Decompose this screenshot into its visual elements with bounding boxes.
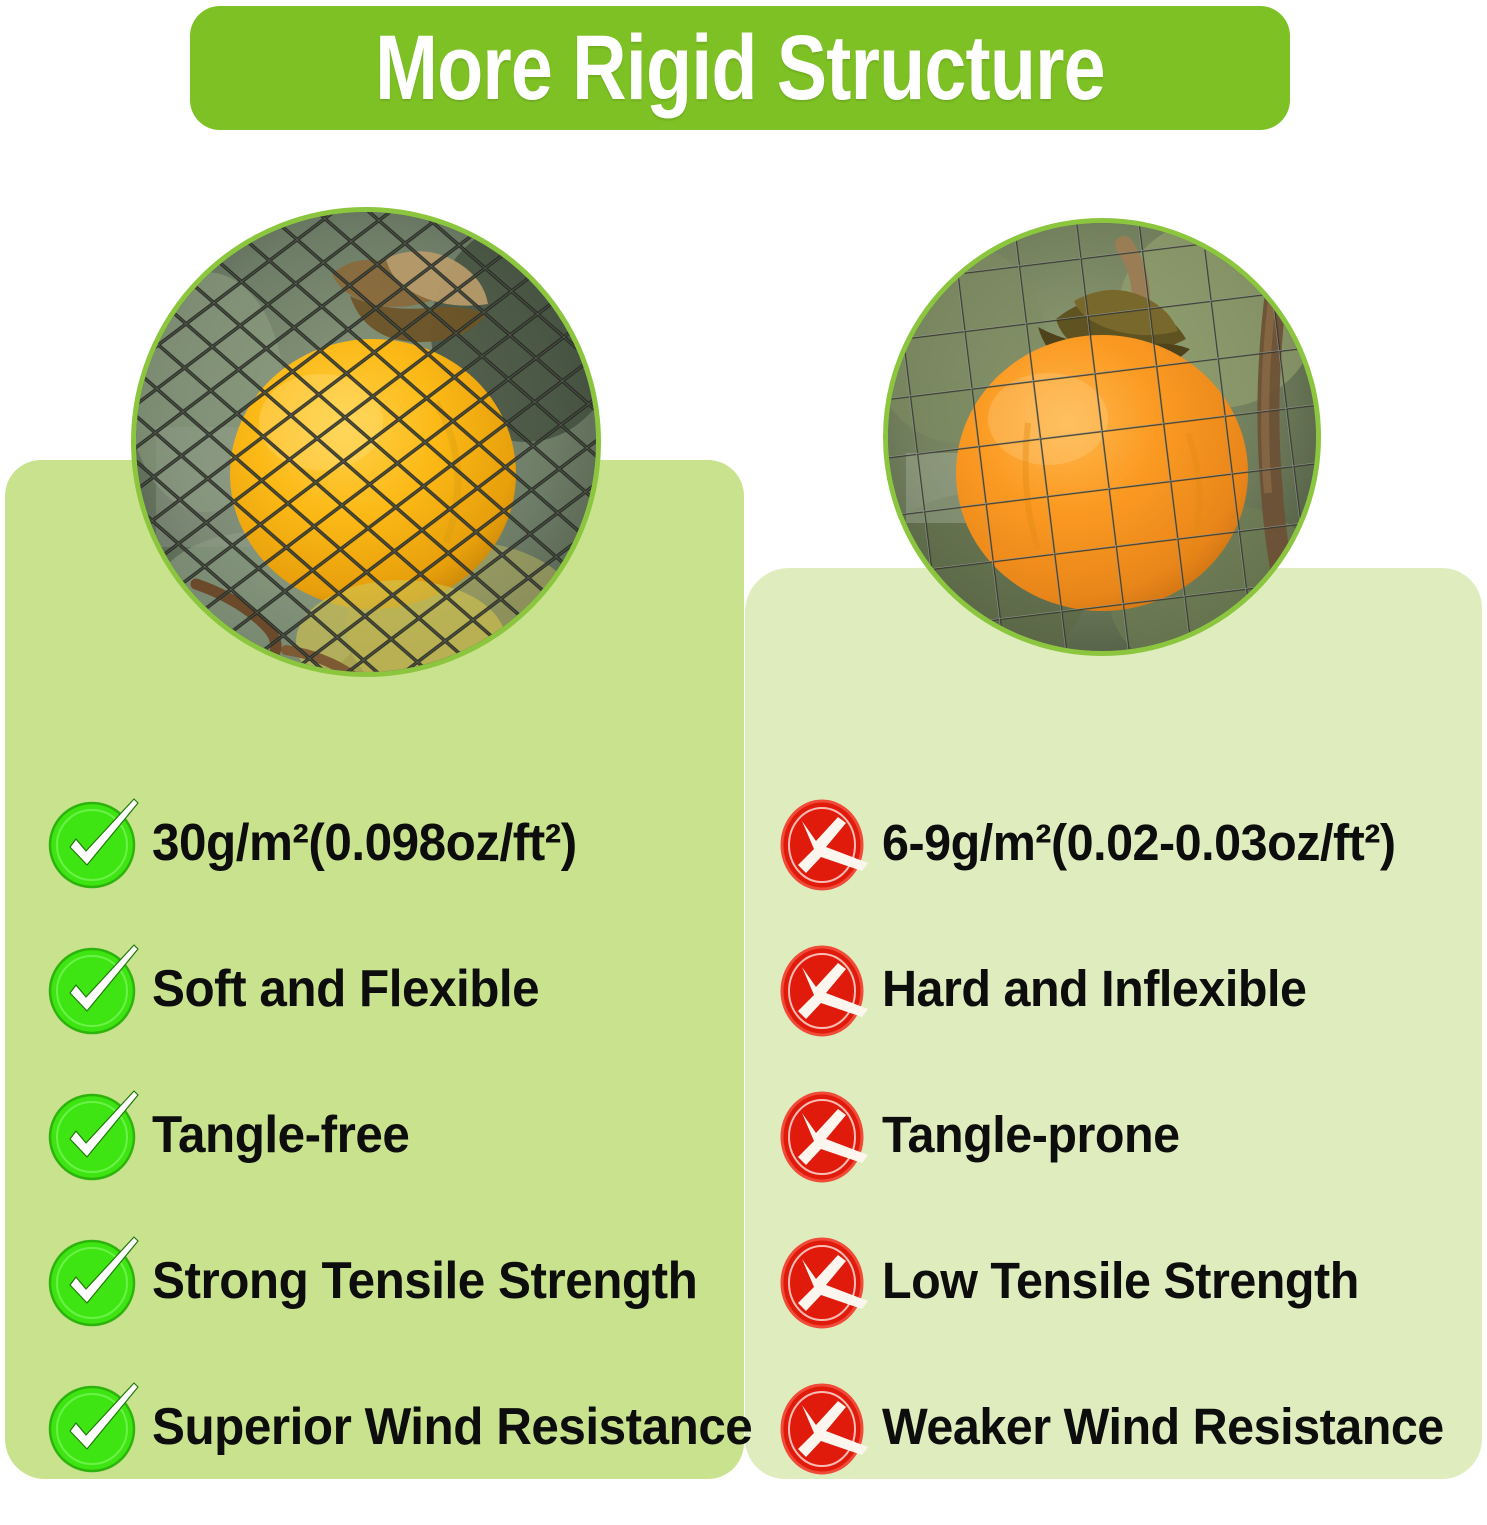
pros-product-photo (131, 207, 601, 677)
list-item-label: Superior Wind Resistance (152, 1400, 752, 1454)
list-item-label: Tangle-free (152, 1108, 409, 1162)
list-item: Tangle-prone (776, 1087, 1476, 1183)
list-item-label: Strong Tensile Strength (152, 1254, 697, 1308)
red-cross-badge-icon (776, 1379, 872, 1475)
red-cross-badge-icon (776, 1233, 872, 1329)
red-cross-badge-icon (776, 1087, 872, 1183)
list-item-label: 30g/m²(0.098oz/ft²) (152, 816, 577, 870)
green-check-badge-icon (46, 941, 142, 1037)
red-cross-badge-icon (776, 795, 872, 891)
list-item: 30g/m²(0.098oz/ft²) (46, 795, 736, 891)
list-item-label: 6-9g/m²(0.02-0.03oz/ft²) (882, 816, 1396, 869)
list-item: Superior Wind Resistance (46, 1379, 736, 1475)
list-item: Strong Tensile Strength (46, 1233, 736, 1329)
green-check-badge-icon (46, 1087, 142, 1183)
list-item-label: Hard and Inflexible (882, 962, 1306, 1015)
cons-feature-list: 6-9g/m²(0.02-0.03oz/ft²) Hard and Inflex… (776, 795, 1476, 1525)
list-item: Low Tensile Strength (776, 1233, 1476, 1329)
list-item-label: Tangle-prone (882, 1108, 1180, 1161)
cons-photo-image (888, 223, 1316, 651)
list-item: Weaker Wind Resistance (776, 1379, 1476, 1475)
red-cross-badge-icon (776, 941, 872, 1037)
cons-product-photo (883, 218, 1321, 656)
green-check-badge-icon (46, 1379, 142, 1475)
list-item-label: Soft and Flexible (152, 962, 539, 1016)
pros-photo-image (136, 212, 596, 672)
list-item: Tangle-free (46, 1087, 736, 1183)
green-check-badge-icon (46, 795, 142, 891)
pros-feature-list: 30g/m²(0.098oz/ft²) Soft and Flexible Ta… (46, 795, 736, 1525)
page-title: More Rigid Structure (375, 22, 1105, 114)
list-item: 6-9g/m²(0.02-0.03oz/ft²) (776, 795, 1476, 891)
page-title-banner: More Rigid Structure (190, 6, 1290, 130)
list-item: Soft and Flexible (46, 941, 736, 1037)
list-item-label: Weaker Wind Resistance (882, 1400, 1444, 1453)
list-item-label: Low Tensile Strength (882, 1254, 1359, 1307)
green-check-badge-icon (46, 1233, 142, 1329)
list-item: Hard and Inflexible (776, 941, 1476, 1037)
